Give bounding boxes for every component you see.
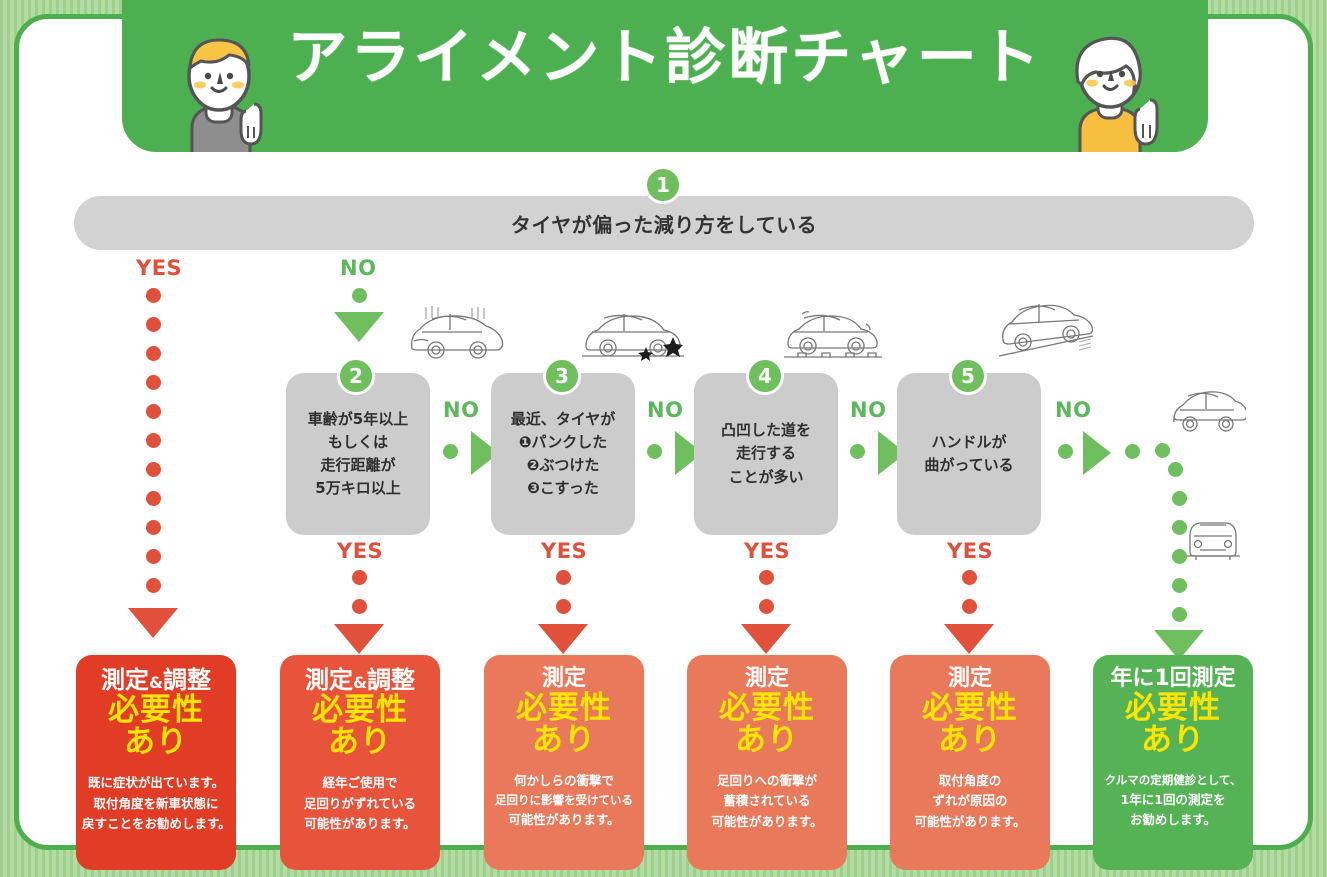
path-arrow-down [741,624,791,654]
result-4-description: 足回りへの衝撃が 蓄積されている 可能性があります。 [693,771,841,833]
path-dot [556,599,571,614]
result-1-desc-line-3: 戻すことをお勧めします。 [82,814,230,835]
question-2-badge: 2 [337,357,375,395]
path-arrow-right [1083,431,1111,475]
result-box-4[interactable]: 測定 必要性 あり 足回りへの衝撃が 蓄積されている 可能性があります。 [687,655,847,870]
car-on-bumpy-road-icon [780,310,885,362]
result-4-big-2: あり [693,724,841,757]
path-dot [759,570,774,585]
result-box-2[interactable]: 測定&調整 必要性 あり 経年ご使用で 足回りがずれている 可能性があります。 [280,655,440,870]
path-dot [146,578,161,593]
result-3-description: 何かしらの衝撃で 足回りに影響を受けている 可能性があります。 [490,771,638,831]
car-three-quarter-view-icon [1168,388,1246,440]
page-title: アライメント診断チャート [122,28,1208,88]
result-box-6[interactable]: 年に1回測定 必要性 あり クルマの定期健診として、 1年に1回の測定を お勧め… [1093,655,1253,870]
result-6-big-2: あり [1099,724,1247,757]
question-3-line-4: ❸こすった [527,477,599,500]
question-1-box[interactable]: タイヤが偏った減り方をしている [74,196,1254,250]
result-4-big-1: 必要性 [693,692,841,725]
result-3-big-1: 必要性 [490,692,638,725]
path-dot [146,433,161,448]
q2-yes-label: YES [337,541,383,562]
q4-yes-label: YES [744,541,790,562]
path-dot [1172,549,1187,564]
result-4-desc-line-2: 蓄積されている [693,791,841,812]
path-dot [1155,443,1170,458]
question-5-badge: 5 [949,357,987,395]
result-5-description: 取付角度の ずれが原因の 可能性があります。 [896,771,1044,833]
car-tire-impact-stars-icon [578,308,688,363]
result-5-desc-line-2: ずれが原因の [896,791,1044,812]
result-5-big-2: あり [896,724,1044,757]
result-5-desc-line-1: 取付角度の [896,771,1044,792]
question-4-line-3: ことが多い [728,466,803,489]
path-dot [1172,520,1187,535]
path-dot [352,570,367,585]
path-arrow-down [944,624,994,654]
path-dot [146,491,161,506]
result-1-description: 既に症状が出ています。 取付角度を新車状態に 戻すことをお勧めします。 [82,773,230,835]
result-3-desc-line-2: 足回りに影響を受けている [490,791,638,810]
path-dot [647,444,662,459]
question-4-line-2: 走行する [736,442,796,465]
mascot-left-icon [154,28,274,152]
question-2-line-2: もしくは [328,431,388,454]
path-dot [146,375,161,390]
path-dot [1172,491,1187,506]
result-5-desc-line-3: 可能性があります。 [896,812,1044,833]
car-front-view-icon [1182,520,1244,564]
question-3-line-1: 最近、タイヤが [511,408,616,431]
question-4-badge: 4 [746,357,784,395]
car-on-slope-icon [985,300,1095,362]
path-dot [962,599,977,614]
result-3-big-2: あり [490,724,638,757]
result-box-1[interactable]: 測定&調整 必要性 あり 既に症状が出ています。 取付角度を新車状態に 戻すこと… [76,655,236,870]
result-4-heading: 測定 [693,667,841,692]
result-3-heading: 測定 [490,667,638,692]
q5-no-label: NO [1055,400,1091,421]
path-arrow-down [128,608,178,638]
q4-no-label: NO [850,400,886,421]
path-arrow-down [334,624,384,654]
path-dot [850,444,865,459]
path-dot [443,444,458,459]
question-3-box[interactable]: 最近、タイヤが ❶パンクした ❷ぶつけた ❸こすった [491,373,635,535]
result-2-desc-line-2: 足回りがずれている [286,794,434,815]
path-dot [146,346,161,361]
question-2-line-4: 5万キロ以上 [315,477,400,500]
result-2-desc-line-1: 経年ご使用で [286,773,434,794]
question-5-box[interactable]: ハンドルが 曲がっている [897,373,1041,535]
result-2-big-2: あり [286,726,434,759]
car-uneven-tire-wear-icon [402,305,507,363]
question-3-line-2: ❶パンクした [519,431,607,454]
path-arrow-down [538,624,588,654]
result-1-desc-line-1: 既に症状が出ています。 [82,773,230,794]
path-arrow-down [334,312,384,342]
question-5-line-1: ハンドルが [931,431,1006,454]
path-dot [1058,444,1073,459]
result-box-5[interactable]: 測定 必要性 あり 取付角度の ずれが原因の 可能性があります。 [890,655,1050,870]
result-6-big-1: 必要性 [1099,692,1247,725]
mascot-right-icon [1050,28,1180,152]
result-4-desc-line-1: 足回りへの衝撃が [693,771,841,792]
q3-yes-label: YES [541,541,587,562]
question-5-line-2: 曲がっている [924,454,1013,477]
question-2-box[interactable]: 車齢が5年以上 もしくは 走行距離が 5万キロ以上 [286,373,430,535]
path-dot [1172,578,1187,593]
question-3-badge: 3 [543,357,581,395]
result-5-big-1: 必要性 [896,692,1044,725]
result-6-desc-line-1: クルマの定期健診として、 [1099,771,1247,790]
result-2-big-1: 必要性 [286,694,434,727]
path-dot [146,404,161,419]
path-dot [352,599,367,614]
path-dot [1168,462,1183,477]
path-dot [962,570,977,585]
q2-no-label: NO [443,400,479,421]
result-1-big-1: 必要性 [82,694,230,727]
question-2-line-3: 走行距離が [320,454,395,477]
path-dot [146,549,161,564]
result-box-3[interactable]: 測定 必要性 あり 何かしらの衝撃で 足回りに影響を受けている 可能性があります… [484,655,644,870]
q3-no-label: NO [647,400,683,421]
question-3-line-3: ❷ぶつけた [527,454,600,477]
result-4-desc-line-3: 可能性があります。 [693,812,841,833]
path-dot [146,288,161,303]
result-1-big-2: あり [82,726,230,759]
question-4-line-1: 凸凹した道を [721,419,811,442]
path-dot [146,462,161,477]
result-3-desc-line-3: 可能性があります。 [490,810,638,831]
path-dot [556,570,571,585]
question-1-badge: 1 [644,166,682,204]
path-dot [1172,607,1187,622]
result-5-heading: 測定 [896,667,1044,692]
path-dot [146,317,161,332]
result-6-description: クルマの定期健診として、 1年に1回の測定を お勧めします。 [1099,771,1247,831]
question-4-box[interactable]: 凸凹した道を 走行する ことが多い [694,373,838,535]
result-6-desc-line-3: お勧めします。 [1099,810,1247,831]
result-2-heading: 測定&調整 [286,667,434,694]
path-dot [759,599,774,614]
result-1-heading: 測定&調整 [82,667,230,694]
result-2-desc-line-3: 可能性があります。 [286,814,434,835]
path-dot [352,288,367,303]
chart-canvas: アライメント診断チャート [0,0,1327,877]
question-1-text: タイヤが偏った減り方をしている [511,209,817,238]
result-6-desc-line-2: 1年に1回の測定を [1099,790,1247,811]
q5-yes-label: YES [947,541,993,562]
question-2-line-1: 車齢が5年以上 [308,408,408,431]
result-6-heading: 年に1回測定 [1099,667,1247,692]
header-banner: アライメント診断チャート [122,0,1208,152]
result-3-desc-line-1: 何かしらの衝撃で [490,771,638,792]
path-dot [146,520,161,535]
result-1-desc-line-2: 取付角度を新車状態に [82,794,230,815]
path-dot [1125,444,1140,459]
q1-no-label: NO [340,258,376,279]
result-2-description: 経年ご使用で 足回りがずれている 可能性があります。 [286,773,434,835]
q1-yes-label: YES [136,258,182,279]
